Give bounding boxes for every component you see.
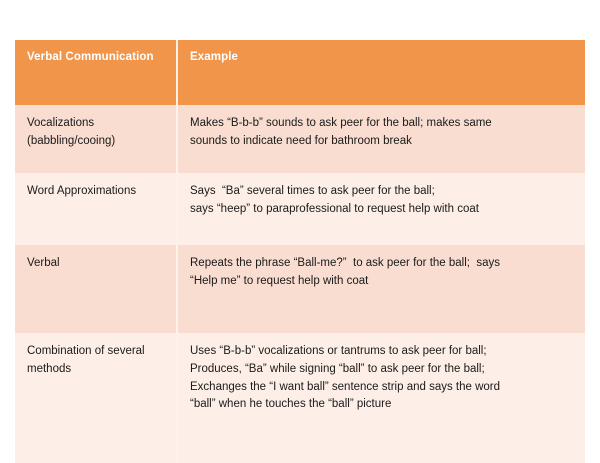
example-line: “Help me” to request help with coat [190, 273, 585, 291]
cell-term: Word Approximations [15, 173, 177, 245]
cell-term: Verbal [15, 245, 177, 333]
example-line: Produces, “Ba” while signing “ball” to a… [190, 361, 585, 379]
slide-canvas: Verbal Communication Example Vocalizatio… [0, 0, 600, 450]
term-line: Word Approximations [27, 183, 176, 201]
example-line: Makes “B-b-b” sounds to ask peer for the… [190, 115, 585, 133]
verbal-communication-table: Verbal Communication Example Vocalizatio… [15, 40, 585, 463]
cell-term: Vocalizations (babbling/cooing) [15, 105, 177, 173]
cell-term: Combination of several methods [15, 333, 177, 463]
term-line: methods [27, 361, 176, 379]
table-header-row: Verbal Communication Example [15, 40, 585, 105]
table-row: Vocalizations (babbling/cooing) Makes “B… [15, 105, 585, 173]
example-line: says “heep” to paraprofessional to reque… [190, 201, 585, 219]
example-line: Uses “B-b-b” vocalizations or tantrums t… [190, 343, 585, 361]
term-line: Verbal [27, 255, 176, 273]
term-line: Combination of several [27, 343, 176, 361]
table-header: Verbal Communication Example [15, 40, 585, 105]
term-line: Vocalizations [27, 115, 176, 133]
column-header-verbal-communication: Verbal Communication [15, 40, 177, 105]
example-line: sounds to indicate need for bathroom bre… [190, 133, 585, 151]
table-row: Word Approximations Says “Ba” several ti… [15, 173, 585, 245]
table-row: Verbal Repeats the phrase “Ball-me?” to … [15, 245, 585, 333]
cell-example: Makes “B-b-b” sounds to ask peer for the… [177, 105, 585, 173]
cell-example: Uses “B-b-b” vocalizations or tantrums t… [177, 333, 585, 463]
example-line: “ball” when he touches the “ball” pictur… [190, 396, 585, 414]
example-line: Exchanges the “I want ball” sentence str… [190, 379, 585, 397]
table-row: Combination of several methods Uses “B-b… [15, 333, 585, 463]
example-line: Repeats the phrase “Ball-me?” to ask pee… [190, 255, 585, 273]
table-body: Vocalizations (babbling/cooing) Makes “B… [15, 105, 585, 463]
column-header-example: Example [177, 40, 585, 105]
cell-example: Says “Ba” several times to ask peer for … [177, 173, 585, 245]
term-line: (babbling/cooing) [27, 133, 176, 151]
cell-example: Repeats the phrase “Ball-me?” to ask pee… [177, 245, 585, 333]
example-line: Says “Ba” several times to ask peer for … [190, 183, 585, 201]
